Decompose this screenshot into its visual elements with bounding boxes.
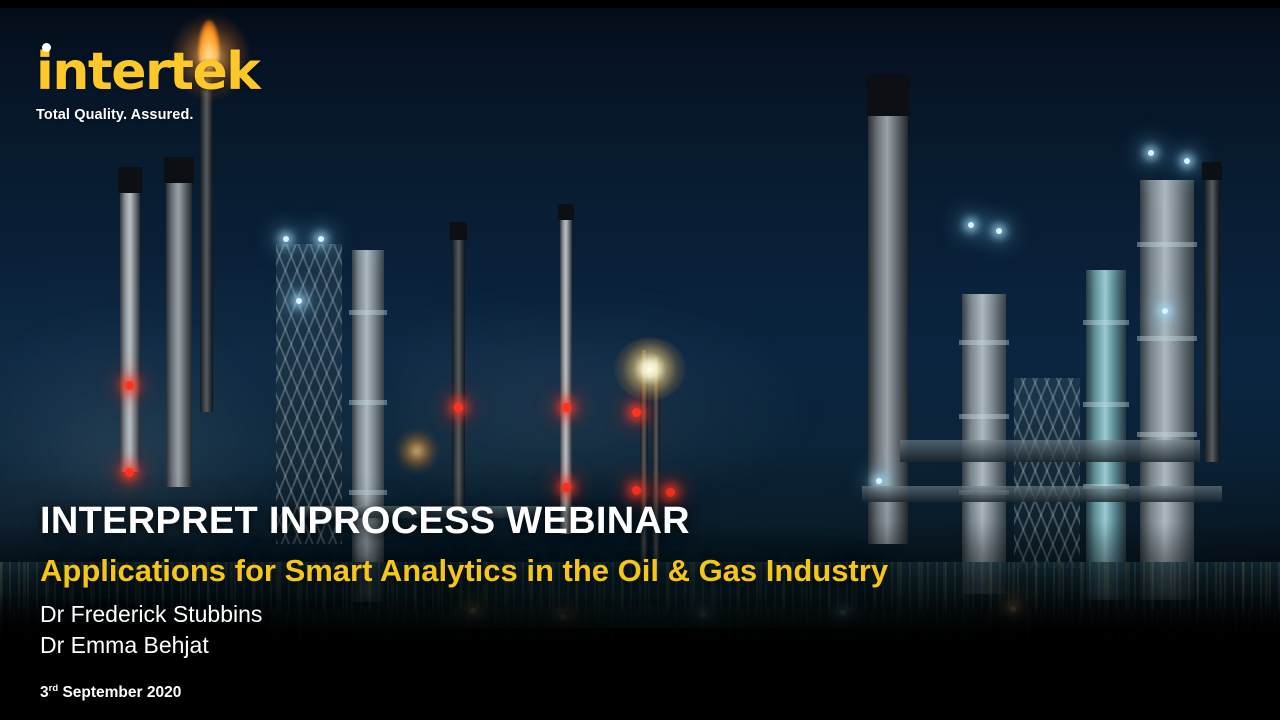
letterbox-bar-bottom	[0, 712, 1280, 720]
chimney-right	[1204, 162, 1220, 462]
main-smokestack	[868, 74, 908, 544]
title-block: INTERPRET INPROCESS WEBINAR Applications…	[40, 502, 1160, 702]
date-day: 3	[40, 684, 49, 701]
flare-arc-light-centre	[614, 338, 686, 400]
date-month-year: September 2020	[62, 684, 181, 701]
beacon-light	[562, 483, 571, 492]
plant-lamp	[1162, 308, 1168, 314]
pipe-rack-upper	[900, 440, 1200, 462]
logo-tagline: Total Quality. Assured.	[36, 107, 259, 123]
page-subtitle: Applications for Smart Analytics in the …	[40, 554, 1160, 587]
plant-lamp	[876, 478, 882, 484]
presenter-name-1: Dr Frederick Stubbins	[40, 599, 1160, 629]
lattice-derrick-left	[276, 244, 342, 544]
pipe-rack-lower	[862, 486, 1222, 502]
beacon-light	[632, 486, 641, 495]
plant-lamp	[1184, 158, 1190, 164]
logo-wordmark-text: intertek	[36, 42, 259, 102]
plant-lamp	[318, 236, 324, 242]
title-slide: intertek Total Quality. Assured. INTERPR…	[0, 0, 1280, 720]
beacon-light	[125, 381, 134, 390]
beacon-light	[125, 468, 134, 477]
plant-lamp	[1148, 150, 1154, 156]
chimney-left	[166, 157, 192, 487]
logo-i-dot	[42, 43, 51, 52]
chimney-mid-a	[452, 222, 465, 512]
letterbox-bar-top	[0, 0, 1280, 8]
beacon-light	[666, 488, 675, 497]
logo-wordmark: intertek	[36, 46, 259, 98]
beacon-light	[632, 408, 641, 417]
date-ordinal-suffix: rd	[49, 683, 59, 694]
plant-lamp	[996, 228, 1002, 234]
plant-lamp	[283, 236, 289, 242]
flare-glow-small	[396, 430, 438, 472]
beacon-light	[562, 403, 571, 412]
plant-lamp	[968, 222, 974, 228]
page-title: INTERPRET INPROCESS WEBINAR	[40, 502, 1160, 542]
beacon-light	[454, 403, 463, 412]
plant-lamp	[296, 298, 302, 304]
presenter-name-2: Dr Emma Behjat	[40, 630, 1160, 660]
intertek-logo: intertek Total Quality. Assured.	[36, 46, 259, 123]
chimney-far-left	[120, 167, 140, 472]
slide-date: 3rd September 2020	[40, 684, 1160, 702]
